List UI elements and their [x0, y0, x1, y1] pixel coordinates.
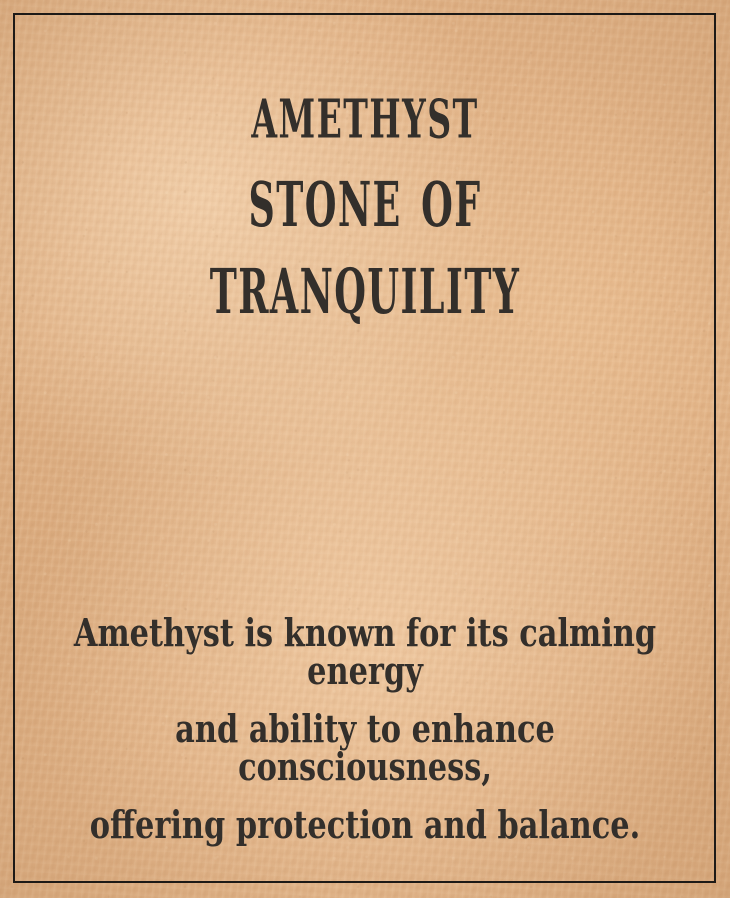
card-description-block: Amethyst is known for its calming energy… — [0, 614, 730, 844]
card-title-line-2: Stone of Tranquility — [110, 153, 621, 328]
card-description-line: offering protection and balance. — [73, 806, 657, 844]
card-title-block: Amethyst Stone of Tranquility — [0, 78, 730, 314]
card-title-line-1: Amethyst — [102, 73, 628, 150]
card-content: Amethyst Stone of Tranquility Amethyst i… — [0, 0, 730, 898]
card-description-line: and ability to enhance consciousness, — [73, 710, 657, 786]
card-description-line: Amethyst is known for its calming energy — [73, 614, 657, 690]
amethyst-info-card: Amethyst Stone of Tranquility Amethyst i… — [0, 0, 730, 898]
